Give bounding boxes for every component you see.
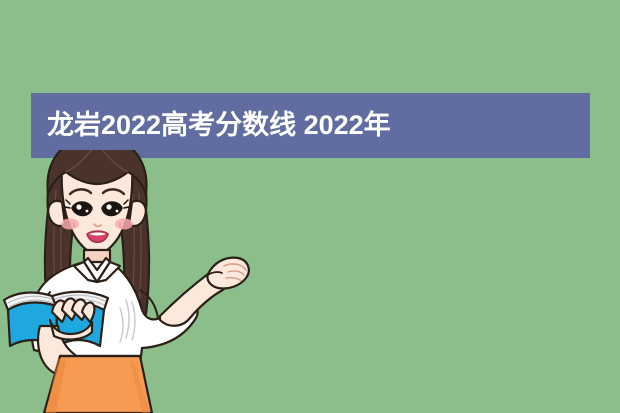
screenshot-canvas: 龙岩2022高考分数线 2022年 xyxy=(0,0,620,413)
title-banner: 龙岩2022高考分数线 2022年 xyxy=(31,93,590,158)
skirt-icon xyxy=(44,356,152,413)
illustration-svg xyxy=(0,150,280,413)
student-girl-illustration xyxy=(0,150,280,413)
outstretched-arm-icon xyxy=(160,258,249,326)
page-title: 龙岩2022高考分数线 2022年 xyxy=(31,112,391,139)
